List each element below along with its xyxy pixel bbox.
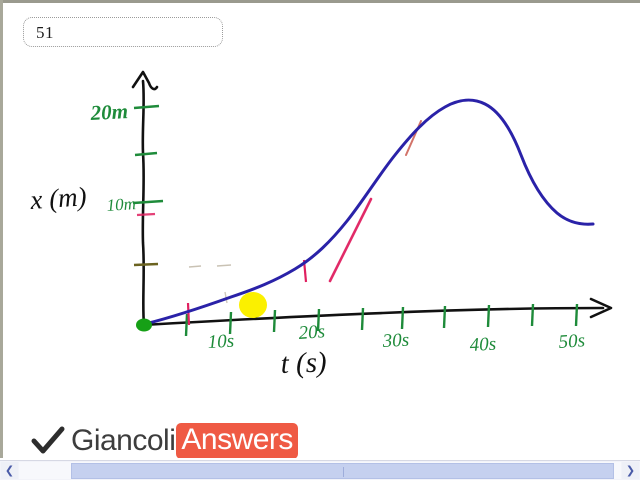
- scrollbar-thumb[interactable]: [71, 463, 614, 479]
- scrollbar-thumb-grip: [343, 467, 344, 477]
- origin-point: [136, 319, 152, 332]
- chevron-left-icon: ❮: [5, 465, 14, 476]
- scroll-right-button[interactable]: ❯: [622, 462, 639, 479]
- y-tick-label-20m: 20m: [89, 99, 129, 125]
- erased-dash-1: [189, 266, 201, 267]
- brand-logo: Giancoli Answers: [31, 421, 298, 458]
- x-tick-40s: [488, 305, 489, 327]
- y-tick-15m: [135, 153, 157, 155]
- y-axis-title: x (m): [28, 181, 87, 215]
- x-tick-label-10s: 10s: [207, 331, 234, 353]
- x-tick-25s: [362, 308, 363, 330]
- checkmark-icon: [31, 424, 65, 458]
- x-axis-line: [143, 308, 603, 325]
- position-curve: [145, 100, 593, 324]
- answer-viewer-window: 51: [0, 0, 640, 480]
- whiteboard-canvas: 51: [3, 3, 640, 458]
- x-tick-label-20s: 20s: [298, 321, 326, 344]
- tangent-line-steep: [330, 199, 371, 281]
- x-tick-50s: [576, 304, 577, 326]
- erased-dash-2: [217, 265, 231, 266]
- x-tick-label-30s: 30s: [381, 330, 409, 352]
- scrollbar-track[interactable]: [19, 462, 621, 479]
- scroll-left-button[interactable]: ❮: [1, 462, 18, 479]
- chevron-right-icon: ❯: [626, 465, 635, 476]
- y-tick-20m: [134, 106, 159, 108]
- x-tick-30s: [402, 307, 403, 329]
- x-tick-15s: [274, 310, 275, 332]
- y-axis-arrowhead: [133, 72, 157, 89]
- x-tick-45s: [532, 304, 533, 326]
- x-axis-title: t (s): [280, 346, 327, 380]
- horizontal-scrollbar[interactable]: ❮ ❯: [0, 460, 640, 480]
- y-tick-10m-red-underline: [137, 214, 155, 215]
- y-tick-5m: [134, 264, 158, 265]
- x-tick-35s: [444, 306, 445, 328]
- highlight-dot: [239, 292, 267, 318]
- brand-name-text: Giancoli: [71, 424, 175, 458]
- brand-answers-badge: Answers: [176, 423, 298, 458]
- y-tick-10m: [133, 201, 163, 203]
- tangent-line-early: [188, 303, 189, 325]
- x-tick-label-50s: 50s: [558, 330, 586, 353]
- x-tick-5s: [186, 314, 187, 336]
- x-tick-label-40s: 40s: [469, 334, 496, 356]
- y-tick-label-10m: 10m: [106, 194, 137, 215]
- graph-drawing: 20m 10m x (m) 10s 20s 30s 40s 50s t (s): [3, 3, 640, 458]
